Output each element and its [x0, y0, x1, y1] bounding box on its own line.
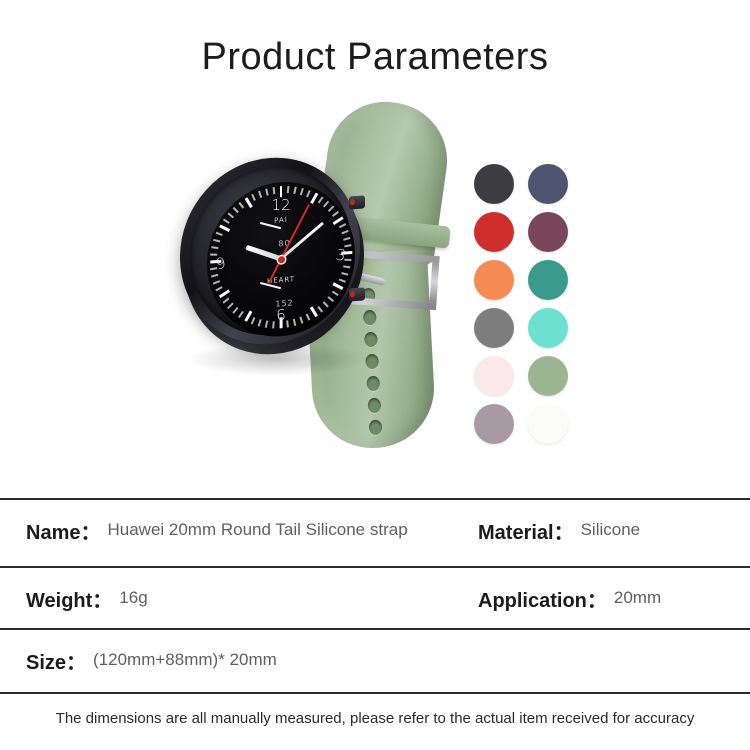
color-swatch-sage-green[interactable] — [528, 356, 568, 396]
subdial-heart: HEART 152 — [253, 274, 309, 310]
spec-row-weight: Weight： 16g Application： 20mm — [0, 568, 750, 628]
product-image: 12 3 6 9 PAI 80 HEART 152 — [0, 100, 750, 490]
watch-bezel: 12 3 6 9 PAI 80 HEART 152 — [190, 161, 352, 340]
dial-numeral-3: 3 — [335, 245, 348, 264]
smartwatch: 12 3 6 9 PAI 80 HEART 152 — [178, 156, 368, 356]
spec-cell-material: Material： Silicone — [478, 500, 640, 560]
color-swatch-teal[interactable] — [528, 260, 568, 300]
measurement-disclaimer: The dimensions are all manually measured… — [0, 710, 750, 727]
color-swatch-turquoise[interactable] — [528, 308, 568, 348]
spec-cell-name: Name： Huawei 20mm Round Tail Silicone st… — [26, 500, 408, 560]
dial-numeral-6: 6 — [276, 306, 286, 324]
spec-value-application: 20mm — [614, 588, 661, 608]
dial-numeral-12: 12 — [271, 196, 290, 214]
color-swatch-red[interactable] — [474, 212, 514, 252]
spec-value-name: Huawei 20mm Round Tail Silicone strap — [107, 520, 407, 540]
spec-divider-bottom — [0, 692, 750, 694]
color-swatch-plum-mauve[interactable] — [528, 212, 568, 252]
watch-crown-upper-button — [349, 195, 365, 209]
color-swatch-off-white[interactable] — [528, 404, 568, 444]
page-title: Product Parameters — [0, 36, 750, 79]
subdial-pai-label: PAI — [274, 216, 288, 225]
color-swatch-orange[interactable] — [474, 260, 514, 300]
spec-row-name: Name： Huawei 20mm Round Tail Silicone st… — [0, 500, 750, 560]
spec-cell-application: Application： 20mm — [478, 568, 661, 628]
color-swatch-slate-navy[interactable] — [528, 164, 568, 204]
spec-label-weight: Weight： — [26, 584, 112, 613]
spec-label-size: Size： — [26, 646, 86, 675]
watch-crown-lower-button — [349, 287, 365, 301]
color-swatch-charcoal-black[interactable] — [474, 164, 514, 204]
color-swatch-gray[interactable] — [474, 308, 514, 348]
color-swatch-grid — [474, 164, 568, 444]
subdial-heart-value: 152 — [260, 297, 309, 309]
spec-value-material: Silicone — [581, 520, 641, 540]
spec-label-material: Material： — [478, 516, 574, 545]
color-swatch-mauve-gray[interactable] — [474, 404, 514, 444]
dial-numeral-9: 9 — [214, 253, 227, 273]
spec-row-size: Size： (120mm+88mm)* 20mm — [0, 630, 750, 690]
dial-tick-marks — [207, 177, 355, 187]
spec-value-weight: 16g — [119, 588, 147, 608]
hands-pivot — [278, 255, 285, 262]
spec-label-application: Application： — [478, 584, 607, 613]
spec-cell-size: Size： (120mm+88mm)* 20mm — [26, 630, 277, 690]
spec-cell-weight: Weight： 16g — [26, 568, 148, 628]
spec-label-name: Name： — [26, 516, 100, 545]
color-swatch-pale-pink[interactable] — [474, 356, 514, 396]
spec-value-size: (120mm+88mm)* 20mm — [93, 650, 277, 670]
